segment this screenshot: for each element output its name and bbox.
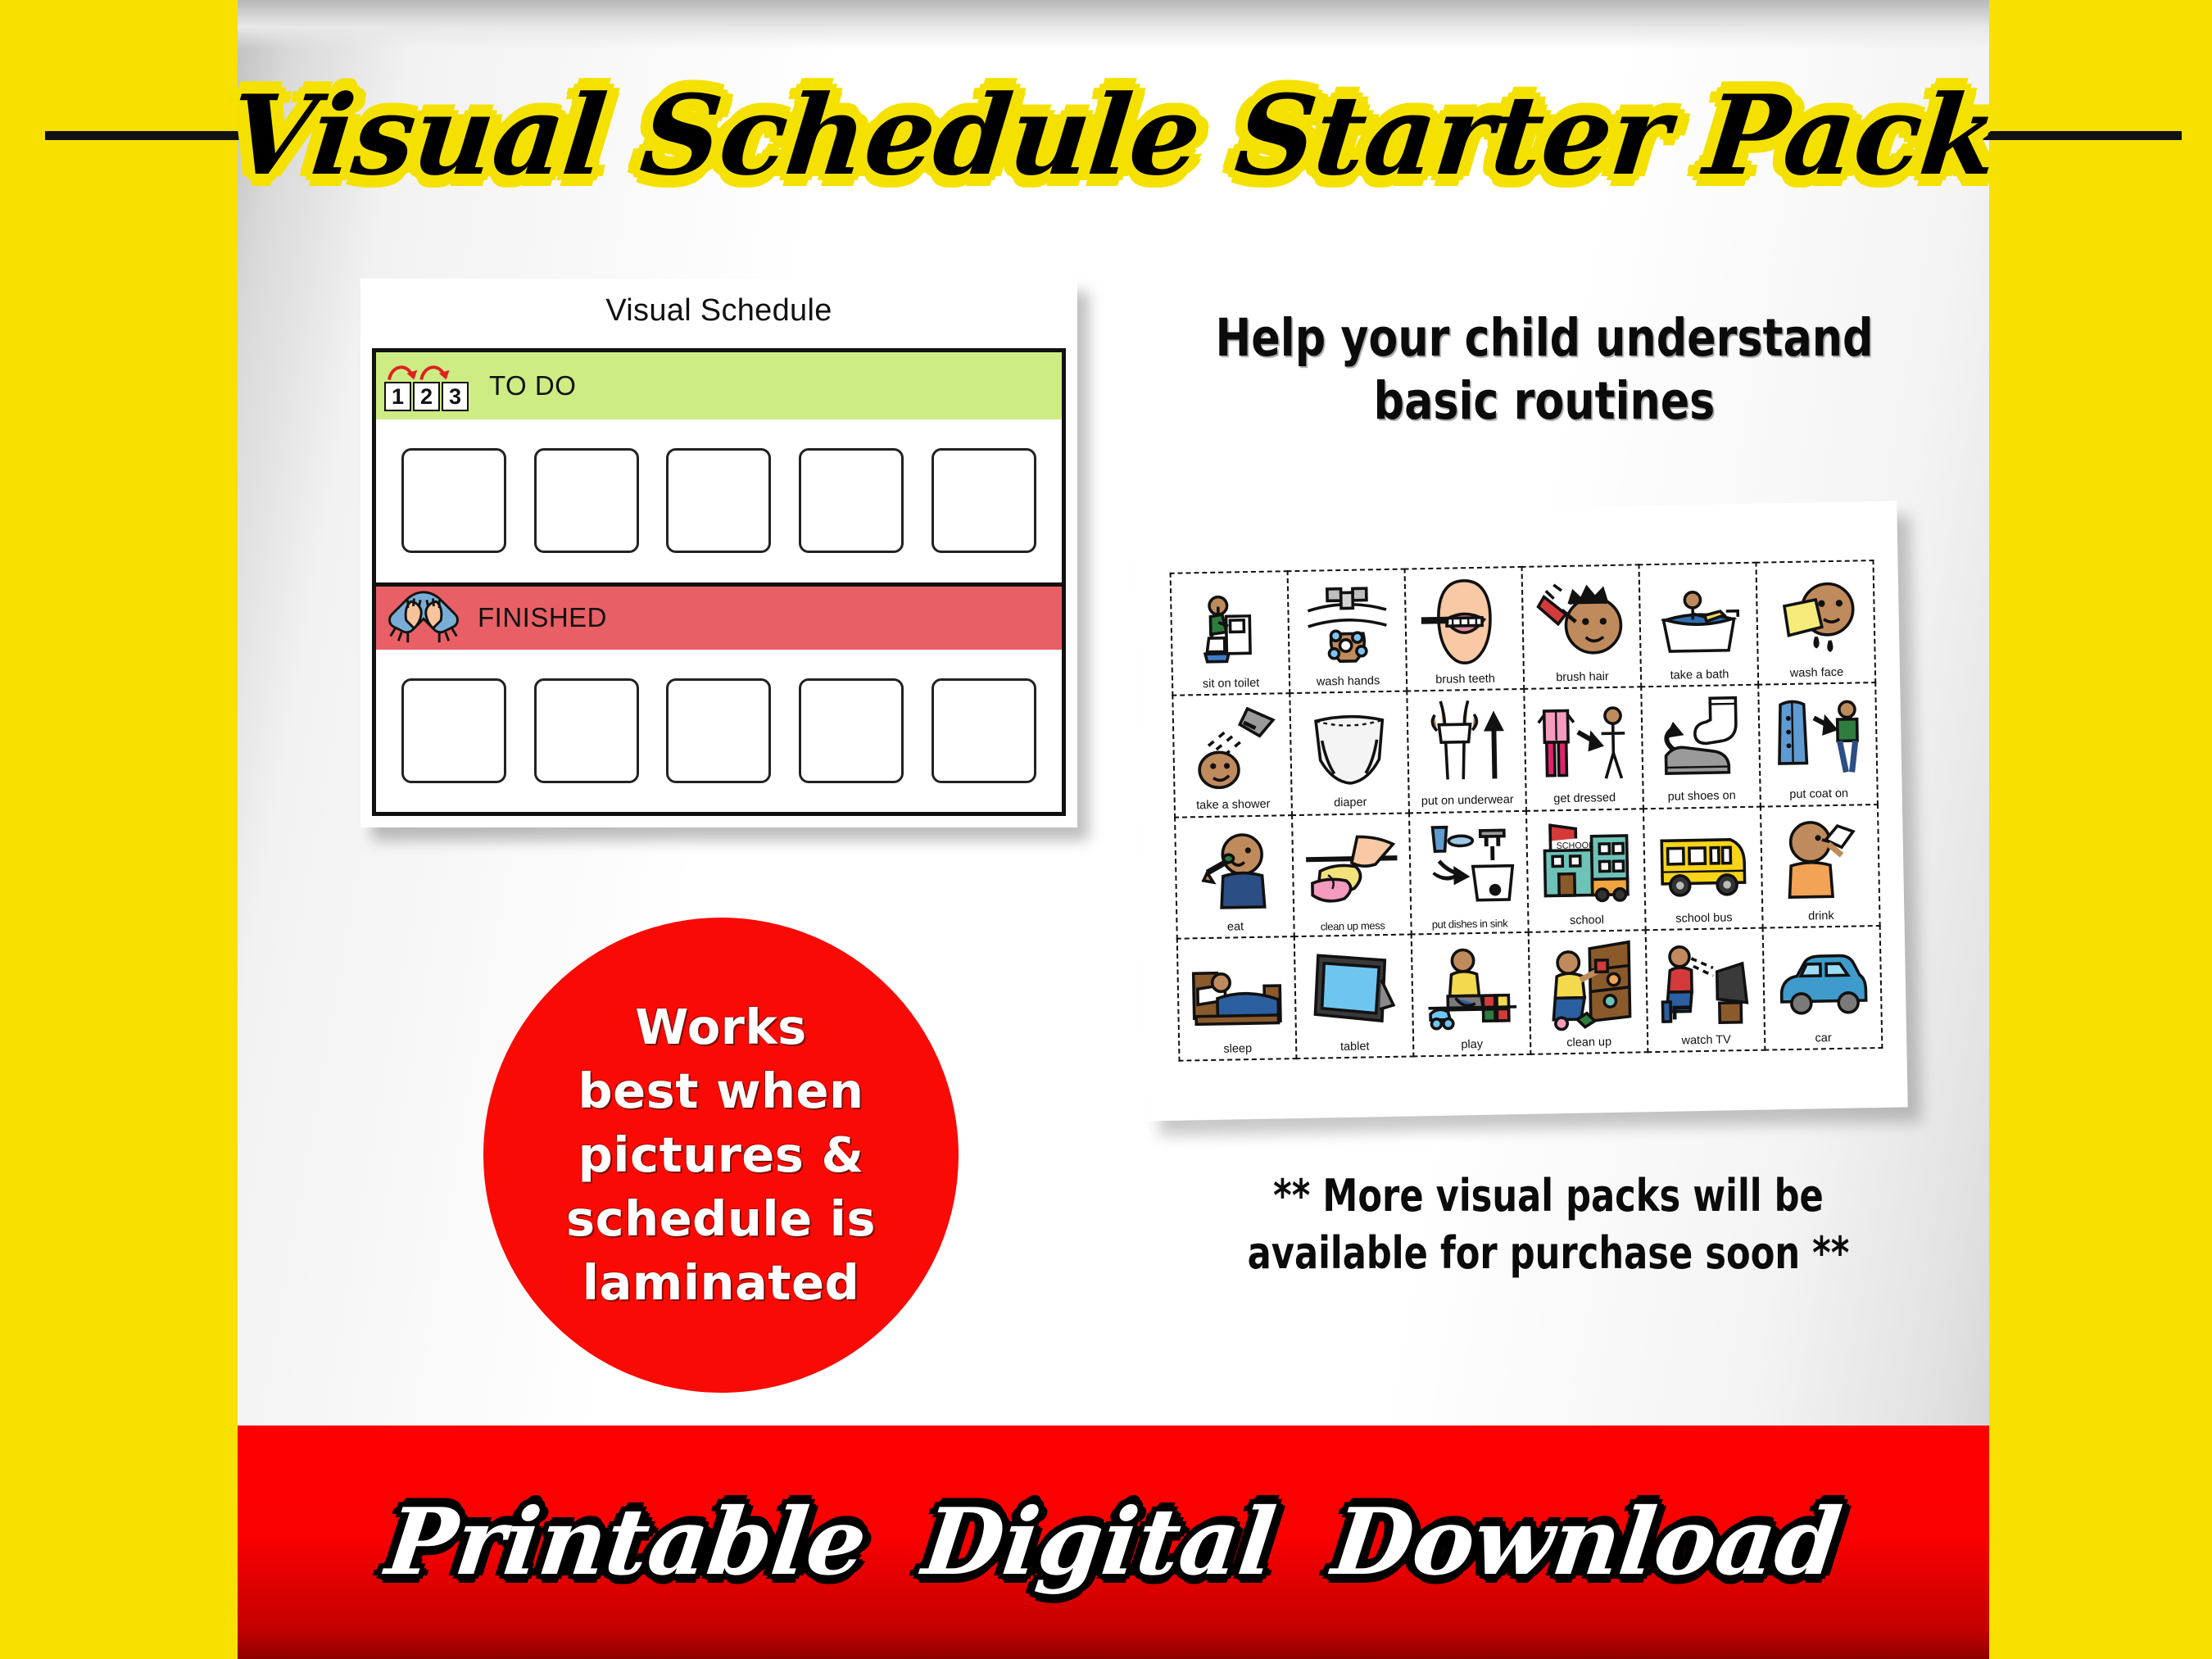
school-building-icon: SCHOOL [1529, 812, 1643, 916]
television-icon [1648, 931, 1762, 1036]
picture-card[interactable]: play [1411, 931, 1532, 1057]
picture-card[interactable]: brush hair [1521, 564, 1643, 689]
more-packs-note: ** More visual packs will be available f… [1227, 1167, 1870, 1282]
card-label: watch TV [1681, 1034, 1730, 1049]
page-title: Visual Schedule Starter Pack [216, 80, 2010, 190]
picture-card[interactable]: sit on toilet [1170, 570, 1291, 696]
card-label: take a bath [1670, 669, 1729, 684]
sock-and-shoe-icon [1643, 687, 1757, 791]
todo-band: 1 2 3 TO DO [376, 352, 1062, 419]
digit-1: 1 [384, 382, 411, 411]
picture-card[interactable]: get dressed [1523, 686, 1644, 811]
showerhead-icon [1175, 696, 1289, 800]
card-label: clean up [1566, 1036, 1611, 1051]
finished-label: FINISHED [478, 602, 607, 633]
card-label: put dishes in sink [1432, 918, 1508, 931]
finished-slot-row [376, 650, 1062, 813]
picture-card[interactable]: take a shower [1172, 692, 1293, 818]
title-rule-right [1977, 131, 2182, 140]
picture-cards-grid: sit on toilet [1171, 560, 1883, 1061]
banner-word-printable: Printable [382, 1497, 871, 1589]
banner-word-download: Download [1328, 1497, 1846, 1589]
person-drinking-icon [1763, 808, 1877, 912]
washing-hands-icon [1290, 573, 1404, 677]
picture-card[interactable]: clean up [1528, 929, 1649, 1054]
right-heading: Help your child understand basic routine… [1208, 307, 1881, 433]
picture-card[interactable]: car [1762, 925, 1883, 1050]
card-label: wash face [1790, 666, 1844, 681]
hairbrush-icon [1525, 568, 1639, 672]
person-eating-icon [1177, 818, 1291, 922]
bed-sleeping-icon [1180, 940, 1294, 1044]
sign-language-finished-icon [384, 587, 463, 648]
picture-card[interactable]: brush teeth [1404, 566, 1525, 691]
todo-slot[interactable] [666, 448, 771, 553]
card-label: eat [1227, 921, 1244, 936]
card-label: put on underwear [1421, 794, 1514, 809]
picture-card[interactable]: put dishes in sink [1408, 809, 1530, 935]
card-label: brush teeth [1435, 673, 1495, 688]
card-label: play [1461, 1039, 1483, 1054]
todo-slot[interactable] [401, 448, 506, 553]
schedule-frame: 1 2 3 TO DO [372, 348, 1066, 816]
picture-card[interactable]: watch TV [1645, 927, 1766, 1053]
bathtub-icon [1642, 566, 1756, 670]
underwear-icon [1409, 692, 1523, 796]
picture-card[interactable]: take a bath [1638, 562, 1759, 687]
coat-to-person-icon [1761, 686, 1874, 790]
card-label: put coat on [1789, 788, 1848, 804]
picture-card[interactable]: sleep [1176, 936, 1298, 1061]
picture-card[interactable]: wash hands [1287, 569, 1408, 694]
card-label: diaper [1334, 797, 1367, 812]
card-label: put shoes on [1668, 790, 1736, 805]
laminate-badge: Works best when pictures & schedule is l… [483, 918, 959, 1393]
card-label: car [1815, 1032, 1831, 1047]
child-playing-blocks-icon [1414, 936, 1528, 1040]
finished-band: FINISHED [376, 582, 1062, 650]
child-shelf-tidy-icon [1531, 934, 1645, 1038]
schedule-card-title: Visual Schedule [360, 279, 1077, 329]
todo-label: TO DO [489, 370, 576, 401]
washcloth-face-icon [1759, 564, 1873, 668]
visual-schedule-card: Visual Schedule 1 2 3 TO DO [360, 279, 1077, 827]
card-label: drink [1808, 910, 1834, 925]
picture-card[interactable]: drink [1760, 804, 1881, 929]
hand-wiping-cloth-icon [1294, 816, 1408, 922]
picture-card[interactable]: put shoes on [1640, 683, 1761, 809]
picture-card[interactable]: put coat on [1757, 682, 1879, 807]
card-label: school [1570, 914, 1604, 929]
toothbrush-mouth-icon [1407, 570, 1521, 674]
tablet-device-icon [1297, 938, 1411, 1042]
card-label: clean up mess [1321, 920, 1385, 934]
pajamas-to-person-icon [1526, 690, 1640, 794]
todo-slot-row [376, 419, 1062, 582]
svg-text:SCHOOL: SCHOOL [1556, 841, 1593, 851]
car-icon [1766, 929, 1879, 1033]
digit-3: 3 [442, 382, 469, 411]
sequence-digits: 1 2 3 [384, 382, 470, 411]
diaper-icon [1292, 694, 1406, 798]
finished-slot[interactable] [401, 678, 506, 783]
card-label: tablet [1340, 1040, 1370, 1055]
card-label: wash hands [1317, 675, 1380, 691]
poster-canvas: Visual Schedule Starter Pack Visual Sche… [0, 0, 2212, 1659]
todo-slot[interactable] [799, 448, 904, 553]
picture-card[interactable]: diaper [1289, 690, 1410, 815]
bottom-banner: Printable Digital Download [238, 1426, 1989, 1659]
todo-slot[interactable] [931, 448, 1036, 553]
school-bus-icon [1646, 809, 1760, 913]
digit-2: 2 [413, 382, 440, 411]
picture-card[interactable]: tablet [1294, 934, 1415, 1059]
finished-slot[interactable] [534, 678, 639, 783]
picture-card[interactable]: eat [1174, 814, 1295, 940]
card-label: sleep [1223, 1043, 1252, 1058]
picture-card[interactable]: school bus [1643, 805, 1764, 931]
card-label: school bus [1675, 912, 1733, 927]
card-label: brush hair [1556, 671, 1609, 686]
finished-slot[interactable] [931, 678, 1036, 783]
picture-card[interactable]: wash face [1755, 560, 1876, 685]
toilet-icon [1173, 574, 1287, 678]
card-label: sit on toilet [1203, 677, 1260, 691]
card-label: get dressed [1553, 792, 1616, 808]
banner-word-digital: Digital [918, 1497, 1280, 1589]
picture-cards-sheet: sit on toilet [1135, 501, 1907, 1122]
card-label: take a shower [1196, 799, 1271, 814]
laminate-badge-text: Works best when pictures & schedule is l… [566, 995, 876, 1314]
picture-card[interactable]: clean up mess [1291, 812, 1412, 937]
picture-card[interactable]: SCHOOL school [1525, 808, 1647, 933]
title-row: Visual Schedule Starter Pack [238, 57, 1989, 213]
title-rule-left [45, 131, 250, 140]
picture-card[interactable]: put on underwear [1406, 688, 1527, 814]
finished-slot[interactable] [799, 678, 904, 783]
todo-slot[interactable] [534, 448, 639, 553]
one-two-three-sequence-icon: 1 2 3 [384, 360, 474, 411]
dishes-in-sink-icon [1412, 814, 1525, 919]
finished-slot[interactable] [666, 678, 771, 783]
